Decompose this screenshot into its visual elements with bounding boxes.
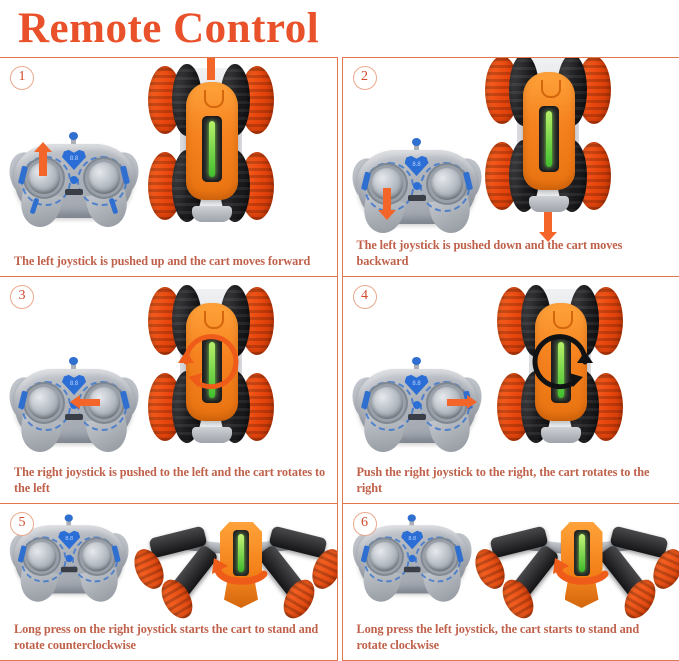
instruction-cell-6: 6 8.8 bbox=[343, 504, 679, 660]
step-number-badge: 3 bbox=[10, 285, 34, 309]
stunt-car-standing-5 bbox=[138, 510, 337, 622]
power-button[interactable] bbox=[66, 555, 73, 562]
cell-caption: The left joystick is pushed up and the c… bbox=[0, 254, 337, 277]
arrow-up-icon bbox=[38, 142, 48, 176]
page-title: Remote Control bbox=[0, 0, 679, 54]
arrow-right-icon bbox=[447, 395, 477, 409]
illustration-stage-1: 8.8 bbox=[0, 58, 337, 254]
car-hook-icon bbox=[204, 90, 224, 108]
car-skid-plate bbox=[541, 427, 581, 443]
step-number-badge: 4 bbox=[353, 285, 377, 309]
remote-control-1: 8.8 bbox=[14, 136, 134, 224]
stunt-car-top-view-4 bbox=[495, 283, 625, 445]
illustration-stage-3: 8.8 bbox=[0, 277, 337, 465]
remote-control-2: 8.8 bbox=[357, 142, 477, 230]
grid-column-left: 1 8.8 bbox=[0, 57, 338, 661]
illustration-stage-6: 8.8 bbox=[343, 504, 679, 622]
right-joystick[interactable] bbox=[82, 542, 111, 571]
battery-slot bbox=[61, 567, 78, 573]
cell-caption: The right joystick is pushed to the left… bbox=[0, 465, 337, 503]
rotation-arrow-clockwise-icon bbox=[523, 325, 597, 399]
car-skid-plate bbox=[529, 196, 569, 212]
instruction-cell-1: 1 8.8 bbox=[0, 58, 337, 277]
battery-slot bbox=[403, 567, 420, 573]
illustration-stage-4: 8.8 bbox=[343, 277, 679, 465]
instruction-grid: 1 8.8 bbox=[0, 57, 679, 661]
car-skid-plate bbox=[192, 427, 232, 443]
car-body bbox=[186, 82, 238, 200]
cell-caption: The left joystick is pushed down and the… bbox=[343, 238, 679, 276]
battery-slot bbox=[408, 414, 426, 420]
car-body bbox=[523, 72, 575, 190]
rotation-arrow-clockwise-icon bbox=[551, 554, 613, 594]
instruction-cell-4: 4 8.8 bbox=[343, 277, 679, 504]
instruction-cell-3: 3 8.8 bbox=[0, 277, 337, 504]
remote-control-3: 8.8 bbox=[14, 361, 134, 449]
battery-slot bbox=[65, 414, 83, 420]
rotation-arrow-counterclockwise-icon bbox=[174, 325, 248, 399]
arrow-down-icon bbox=[382, 188, 392, 220]
stunt-car-top-view-3 bbox=[146, 283, 276, 445]
left-joystick[interactable] bbox=[28, 387, 60, 419]
car-led-strip bbox=[539, 106, 559, 172]
power-button[interactable] bbox=[413, 401, 421, 409]
arrow-down-icon bbox=[543, 212, 553, 242]
instruction-cell-5: 5 8.8 bbox=[0, 504, 337, 660]
power-button[interactable] bbox=[413, 182, 421, 190]
illustration-stage-2: 8.8 bbox=[343, 58, 679, 238]
left-joystick[interactable] bbox=[371, 387, 403, 419]
car-hook-icon bbox=[541, 80, 561, 98]
step-number-badge: 5 bbox=[10, 512, 34, 536]
cell-caption: Push the right joystick to the right, th… bbox=[343, 465, 679, 503]
step-number-badge: 1 bbox=[10, 66, 34, 90]
battery-slot bbox=[408, 195, 426, 201]
car-skid-plate bbox=[192, 206, 232, 222]
cell-caption: Long press on the right joystick starts … bbox=[0, 622, 337, 660]
power-button[interactable] bbox=[70, 176, 78, 184]
battery-slot bbox=[65, 189, 83, 195]
arrow-left-icon bbox=[70, 395, 100, 409]
illustration-stage-5: 8.8 bbox=[0, 504, 337, 622]
stunt-car-standing-6 bbox=[479, 510, 679, 622]
cell-caption: Long press the left joystick, the cart s… bbox=[343, 622, 679, 660]
step-number-badge: 6 bbox=[353, 512, 377, 536]
car-led-strip bbox=[202, 116, 222, 182]
grid-column-right: 2 8.8 bbox=[342, 57, 679, 661]
arrow-up-icon bbox=[206, 58, 216, 80]
remote-control-4: 8.8 bbox=[357, 361, 477, 449]
left-joystick[interactable] bbox=[369, 542, 398, 571]
stunt-car-top-view-1 bbox=[146, 62, 276, 224]
rotation-arrow-counterclockwise-icon bbox=[210, 554, 272, 594]
step-number-badge: 2 bbox=[353, 66, 377, 90]
instruction-cell-2: 2 8.8 bbox=[343, 58, 679, 277]
right-joystick[interactable] bbox=[425, 542, 454, 571]
power-button[interactable] bbox=[408, 555, 415, 562]
right-joystick[interactable] bbox=[431, 168, 463, 200]
stunt-car-top-view-2 bbox=[483, 58, 613, 214]
right-joystick[interactable] bbox=[88, 162, 120, 194]
left-joystick[interactable] bbox=[27, 542, 56, 571]
